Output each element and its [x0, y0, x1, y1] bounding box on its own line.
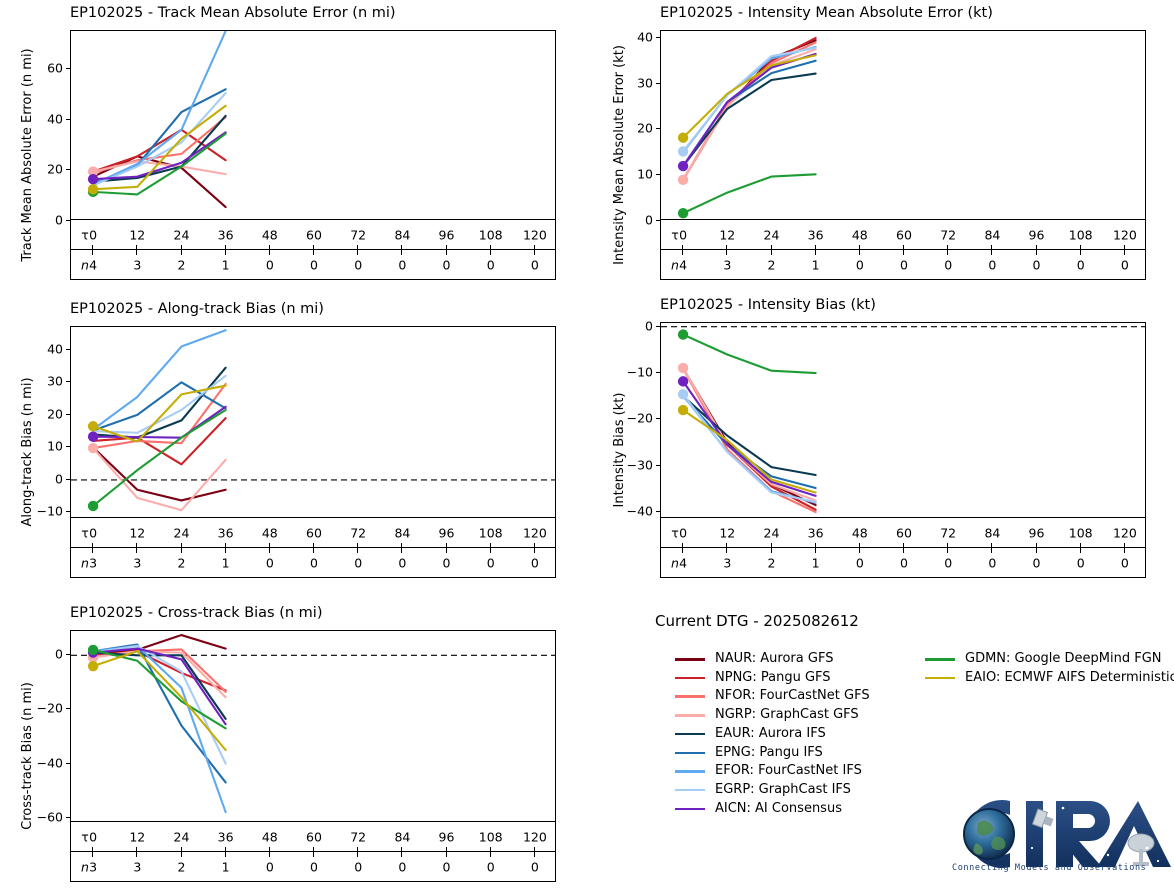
x-tick-mark [490, 847, 491, 857]
series-line-NAUR [683, 40, 816, 180]
count-cell: 0 [531, 555, 539, 570]
x-tick-mark [357, 847, 358, 857]
series-marker-GDMN [678, 329, 688, 339]
count-cell: 0 [1033, 555, 1041, 570]
tau-tick-label: 36 [218, 525, 234, 540]
count-row-intensity-mae: n43210000000 [660, 250, 1146, 280]
series-line-EPNG [93, 89, 226, 184]
tau-row-intensity-bias: τ01224364860728496108120 [660, 518, 1146, 548]
series-line-EAIO [93, 106, 226, 190]
series-line-EPNG [683, 396, 816, 488]
legend-item-GDMN[interactable]: GDMN: Google DeepMind FGN [925, 650, 1174, 667]
count-cell: 4 [679, 555, 687, 570]
series-line-NGRP [93, 448, 226, 510]
series-line-NPNG [683, 368, 816, 509]
tau-tick-label: 48 [852, 525, 868, 540]
plot-area-cross-track-bias [70, 630, 556, 822]
count-cell: 0 [856, 257, 864, 272]
x-tick-mark [446, 847, 447, 857]
plot-area-intensity-bias [660, 322, 1146, 518]
count-cell: 0 [531, 257, 539, 272]
series-line-AICN [683, 54, 816, 166]
y-tick-label: 0 [608, 318, 653, 333]
series-line-NAUR [683, 368, 816, 505]
y-tick-label: −40 [18, 755, 63, 770]
tau-tick-label: 60 [896, 525, 912, 540]
series-line-NFOR [93, 384, 226, 448]
y-tick-mark [66, 654, 70, 655]
x-tick-mark [682, 543, 683, 553]
n-symbol: n [81, 859, 89, 874]
count-cell: 0 [310, 555, 318, 570]
series-line-NAUR [93, 635, 226, 654]
x-tick-mark [771, 543, 772, 553]
x-tick-mark [181, 543, 182, 553]
legend-label-EAUR: EAUR: Aurora IFS [715, 725, 826, 742]
tau-tick-label: 96 [1029, 227, 1045, 242]
y-tick-mark [656, 128, 660, 129]
x-tick-mark [1080, 245, 1081, 255]
count-cell: 4 [679, 257, 687, 272]
legend-label-NGRP: NGRP: GraphCast GFS [715, 706, 859, 723]
legend-item-NFOR[interactable]: NFOR: FourCastNet GFS [675, 687, 935, 704]
series-line-EAIO [683, 55, 816, 137]
legend-label-NFOR: NFOR: FourCastNet GFS [715, 687, 870, 704]
series-line-GDMN [93, 134, 226, 195]
legend-item-NPNG[interactable]: NPNG: Pangu GFS [675, 669, 935, 686]
n-symbol: n [671, 555, 679, 570]
count-cell: 1 [222, 555, 230, 570]
count-cell: 0 [310, 257, 318, 272]
y-tick-label: −20 [18, 701, 63, 716]
series-marker-AICN [678, 161, 688, 171]
series-marker-GDMN [88, 501, 98, 511]
series-marker-NGRP [678, 175, 688, 185]
count-cell: 3 [133, 555, 141, 570]
legend-label-AICN: AICN: AI Consensus [715, 800, 842, 817]
series-marker-AICN [678, 376, 688, 386]
chart-title-intensity-bias: EP102025 - Intensity Bias (kt) [660, 297, 876, 313]
tau-tick-label: 72 [350, 525, 366, 540]
count-cell: 0 [900, 555, 908, 570]
series-line-NGRP [93, 651, 226, 697]
series-marker-EAIO [88, 421, 98, 431]
series-line-EGRP [683, 394, 816, 502]
y-tick-label: 60 [18, 61, 63, 76]
chart-title-cross-track-bias: EP102025 - Cross-track Bias (n mi) [70, 605, 323, 621]
x-tick-mark [903, 245, 904, 255]
series-line-NFOR [93, 117, 226, 173]
x-tick-mark [726, 245, 727, 255]
tau-row-track-mae: τ01224364860728496108120 [70, 220, 556, 250]
count-cell: 0 [266, 555, 274, 570]
x-tick-mark [1080, 543, 1081, 553]
x-tick-mark [859, 543, 860, 553]
count-cell: 2 [178, 257, 186, 272]
series-canvas-track-mae [71, 31, 556, 220]
series-marker-EAIO [88, 184, 98, 194]
x-tick-mark [92, 847, 93, 857]
tau-tick-label: 84 [394, 525, 410, 540]
y-tick-label: 30 [18, 374, 63, 389]
y-tick-mark [66, 817, 70, 818]
y-tick-mark [66, 763, 70, 764]
series-line-NFOR [683, 42, 816, 179]
tau-tick-label: 84 [984, 525, 1000, 540]
count-cell: 3 [89, 859, 97, 874]
count-cell: 3 [133, 257, 141, 272]
count-cell: 0 [487, 555, 495, 570]
y-tick-mark [656, 511, 660, 512]
legend-item-EAUR[interactable]: EAUR: Aurora IFS [675, 725, 935, 742]
x-tick-mark [357, 543, 358, 553]
y-tick-label: 0 [18, 647, 63, 662]
x-tick-mark [401, 245, 402, 255]
y-tick-mark [66, 708, 70, 709]
tau-tick-label: 24 [764, 227, 780, 242]
x-tick-mark [1124, 245, 1125, 255]
tau-tick-label: 120 [523, 227, 547, 242]
count-cell: 0 [310, 859, 318, 874]
series-marker-EAIO [678, 405, 688, 415]
series-line-GDMN [683, 174, 816, 213]
series-line-NFOR [683, 368, 816, 512]
series-marker-EAIO [678, 132, 688, 142]
legend-label-NAUR: NAUR: Aurora GFS [715, 650, 833, 667]
series-marker-AICN [88, 431, 98, 441]
tau-tick-label: 72 [940, 227, 956, 242]
series-canvas-along-track-bias [71, 327, 556, 518]
tau-tick-label: 108 [1069, 525, 1093, 540]
legend-item-EGRP[interactable]: EGRP: GraphCast IFS [675, 781, 935, 798]
series-canvas-cross-track-bias [71, 631, 556, 822]
count-cell: 0 [266, 859, 274, 874]
legend-swatch-GDMN-icon [925, 658, 955, 661]
legend-item-NGRP[interactable]: NGRP: GraphCast GFS [675, 706, 935, 723]
count-cell: 0 [531, 859, 539, 874]
series-canvas-intensity-mae [661, 31, 1146, 220]
y-tick-mark [656, 220, 660, 221]
tau-tick-label: 24 [174, 829, 190, 844]
tau-tick-label: 72 [940, 525, 956, 540]
x-tick-mark [136, 543, 137, 553]
x-tick-mark [313, 847, 314, 857]
count-cell: 0 [354, 555, 362, 570]
count-row-along-track-bias: n33210000000 [70, 548, 556, 578]
x-tick-mark [947, 245, 948, 255]
chart-title-intensity-mae: EP102025 - Intensity Mean Absolute Error… [660, 5, 993, 21]
series-line-EAUR [93, 368, 226, 438]
legend-item-EAIO[interactable]: EAIO: ECMWF AIFS Deterministic [925, 669, 1174, 686]
x-tick-mark [401, 543, 402, 553]
series-line-EFOR [93, 31, 226, 184]
y-tick-mark [66, 414, 70, 415]
count-cell: 1 [222, 257, 230, 272]
count-cell: 0 [443, 859, 451, 874]
y-tick-mark [66, 446, 70, 447]
legend-swatch-NAUR-icon [675, 658, 705, 661]
tau-tick-label: 108 [479, 829, 503, 844]
legend-label-EPNG: EPNG: Pangu IFS [715, 744, 823, 761]
series-line-EGRP [93, 93, 226, 185]
count-cell: 0 [1121, 555, 1129, 570]
legend-swatch-AICN-icon [675, 808, 705, 811]
series-line-EGRP [93, 376, 226, 433]
x-tick-mark [269, 847, 270, 857]
count-cell: 1 [222, 859, 230, 874]
legend-swatch-NGRP-icon [675, 714, 705, 717]
series-line-EAIO [93, 651, 226, 750]
y-tick-label: 10 [18, 439, 63, 454]
tau-tick-label: 96 [439, 227, 455, 242]
count-cell: 2 [768, 555, 776, 570]
legend-label-EGRP: EGRP: GraphCast IFS [715, 781, 851, 798]
series-line-EFOR [683, 395, 816, 503]
count-cell: 0 [1077, 257, 1085, 272]
series-line-NGRP [683, 49, 816, 179]
x-tick-mark [726, 543, 727, 553]
count-cell: 0 [1077, 555, 1085, 570]
series-line-EPNG [93, 382, 226, 430]
series-line-GDMN [683, 335, 816, 373]
series-line-NAUR [93, 156, 226, 207]
x-tick-mark [181, 245, 182, 255]
series-line-NPNG [93, 130, 226, 172]
legend-item-NAUR[interactable]: NAUR: Aurora GFS [675, 650, 935, 667]
legend-swatch-NPNG-icon [675, 677, 705, 680]
series-line-NGRP [683, 368, 816, 501]
count-cell: 2 [768, 257, 776, 272]
series-line-GDMN [93, 650, 226, 728]
count-cell: 0 [988, 257, 996, 272]
series-marker-NGRP [88, 166, 98, 176]
x-tick-mark [92, 245, 93, 255]
y-tick-label: 20 [608, 121, 653, 136]
y-tick-label: −10 [608, 365, 653, 380]
tau-tick-label: 24 [764, 525, 780, 540]
x-tick-mark [1124, 543, 1125, 553]
legend-label-EFOR: EFOR: FourCastNet IFS [715, 762, 862, 779]
count-cell: 0 [354, 859, 362, 874]
count-cell: 0 [398, 257, 406, 272]
series-line-EPNG [683, 61, 816, 166]
x-tick-mark [815, 543, 816, 553]
legend-item-EFOR[interactable]: EFOR: FourCastNet IFS [675, 762, 935, 779]
series-line-NGRP [93, 161, 226, 174]
series-line-EPNG [93, 645, 226, 783]
x-tick-mark [534, 847, 535, 857]
y-tick-mark [656, 83, 660, 84]
tau-tick-label: 36 [808, 227, 824, 242]
tau-tick-label: 12 [719, 525, 735, 540]
x-tick-mark [903, 543, 904, 553]
cira-tagline: Connecting Models and Observations [952, 863, 1146, 873]
plot-area-along-track-bias [70, 326, 556, 518]
tau-tick-label: 0 [89, 829, 97, 844]
x-tick-mark [815, 245, 816, 255]
x-tick-mark [1036, 245, 1037, 255]
y-tick-mark [66, 479, 70, 480]
count-cell: 0 [856, 555, 864, 570]
tau-symbol: τ [81, 227, 89, 242]
x-tick-mark [357, 245, 358, 255]
y-tick-mark [66, 381, 70, 382]
tau-tick-label: 108 [479, 525, 503, 540]
x-tick-mark [269, 543, 270, 553]
tau-tick-label: 120 [523, 829, 547, 844]
y-tick-label: 0 [18, 471, 63, 486]
series-marker-GDMN [88, 187, 98, 197]
chart-title-track-mae: EP102025 - Track Mean Absolute Error (n … [70, 5, 396, 21]
y-tick-mark [66, 169, 70, 170]
legend-item-AICN[interactable]: AICN: AI Consensus [675, 800, 935, 817]
series-marker-GDMN [678, 208, 688, 218]
x-tick-mark [490, 543, 491, 553]
x-tick-mark [1036, 543, 1037, 553]
tau-row-intensity-mae: τ01224364860728496108120 [660, 220, 1146, 250]
count-cell: 3 [723, 257, 731, 272]
y-tick-mark [66, 349, 70, 350]
y-tick-mark [656, 418, 660, 419]
count-cell: 4 [89, 257, 97, 272]
series-line-EAUR [683, 74, 816, 166]
tau-tick-label: 36 [808, 525, 824, 540]
legend-swatch-EAIO-icon [925, 677, 955, 680]
series-line-NPNG [683, 38, 816, 180]
x-tick-mark [313, 543, 314, 553]
tau-tick-label: 108 [479, 227, 503, 242]
chart-title-along-track-bias: EP102025 - Along-track Bias (n mi) [70, 301, 324, 317]
y-tick-label: −30 [608, 457, 653, 472]
series-line-EGRP [93, 646, 226, 764]
count-cell: 0 [398, 859, 406, 874]
tau-tick-label: 72 [350, 227, 366, 242]
x-tick-mark [269, 245, 270, 255]
cira-logo: Connecting Models and Observations [942, 793, 1174, 893]
series-line-NPNG [93, 651, 226, 690]
series-line-EAUR [683, 396, 816, 475]
series-marker-EAIO [88, 661, 98, 671]
x-tick-mark [136, 245, 137, 255]
count-cell: 0 [1121, 257, 1129, 272]
count-cell: 0 [487, 859, 495, 874]
series-canvas-intensity-bias [661, 323, 1146, 518]
tau-tick-label: 12 [129, 525, 145, 540]
y-axis-label-intensity-bias: Intensity Bias (kt) [612, 322, 627, 578]
tau-tick-label: 120 [523, 525, 547, 540]
y-tick-mark [656, 326, 660, 327]
count-cell: 0 [988, 555, 996, 570]
series-line-AICN [93, 649, 226, 725]
legend-label-NPNG: NPNG: Pangu GFS [715, 669, 831, 686]
count-row-intensity-bias: n43210000000 [660, 548, 1146, 578]
tau-tick-label: 12 [129, 227, 145, 242]
legend-swatch-EGRP-icon [675, 789, 705, 792]
tau-tick-label: 120 [1113, 525, 1137, 540]
series-line-NPNG [93, 418, 226, 464]
tau-tick-label: 60 [306, 525, 322, 540]
tau-tick-label: 0 [89, 227, 97, 242]
count-cell: 0 [944, 555, 952, 570]
count-cell: 2 [178, 555, 186, 570]
tau-tick-label: 72 [350, 829, 366, 844]
series-line-EGRP [683, 48, 816, 151]
tau-row-along-track-bias: τ01224364860728496108120 [70, 518, 556, 548]
y-tick-label: 20 [18, 406, 63, 421]
x-tick-mark [181, 847, 182, 857]
series-marker-NGRP [88, 652, 98, 662]
x-tick-mark [771, 245, 772, 255]
series-line-AICN [93, 132, 226, 179]
tau-tick-label: 84 [984, 227, 1000, 242]
y-tick-label: 40 [18, 341, 63, 356]
plot-area-track-mae [70, 30, 556, 220]
x-tick-mark [991, 543, 992, 553]
series-line-EAUR [93, 116, 226, 182]
y-tick-mark [66, 220, 70, 221]
legend-label-EAIO: EAIO: ECMWF AIFS Deterministic [965, 669, 1174, 686]
x-tick-mark [490, 245, 491, 255]
count-row-cross-track-bias: n33210000000 [70, 852, 556, 882]
tau-tick-label: 108 [1069, 227, 1093, 242]
x-tick-mark [534, 245, 535, 255]
series-line-NFOR [93, 649, 226, 691]
series-line-NAUR [93, 447, 226, 500]
count-cell: 3 [133, 859, 141, 874]
y-axis-label-cross-track-bias: Cross-track Bias (n mi) [20, 630, 35, 882]
x-tick-mark [313, 245, 314, 255]
tau-tick-label: 96 [439, 829, 455, 844]
y-tick-mark [656, 174, 660, 175]
y-tick-label: −40 [608, 504, 653, 519]
tau-tick-label: 48 [262, 829, 278, 844]
x-tick-mark [225, 543, 226, 553]
n-symbol: n [81, 555, 89, 570]
series-marker-AICN [88, 647, 98, 657]
y-tick-label: 40 [18, 111, 63, 126]
count-cell: 1 [812, 257, 820, 272]
y-tick-label: 30 [608, 75, 653, 90]
count-cell: 0 [487, 257, 495, 272]
y-tick-mark [66, 68, 70, 69]
tau-symbol: τ [671, 227, 679, 242]
y-tick-mark [66, 511, 70, 512]
legend-item-EPNG[interactable]: EPNG: Pangu IFS [675, 744, 935, 761]
tau-tick-label: 0 [679, 227, 687, 242]
tau-tick-label: 0 [679, 525, 687, 540]
plot-area-intensity-mae [660, 30, 1146, 220]
tau-tick-label: 96 [439, 525, 455, 540]
series-line-AICN [683, 381, 816, 495]
x-tick-mark [401, 847, 402, 857]
x-tick-mark [859, 245, 860, 255]
x-tick-mark [682, 245, 683, 255]
legend-swatch-EAUR-icon [675, 733, 705, 736]
count-cell: 0 [443, 555, 451, 570]
tau-tick-label: 0 [89, 525, 97, 540]
series-marker-EGRP [678, 389, 688, 399]
y-tick-mark [66, 119, 70, 120]
series-line-EAIO [93, 386, 226, 442]
tau-tick-label: 36 [218, 227, 234, 242]
x-tick-mark [446, 543, 447, 553]
tau-tick-label: 84 [394, 227, 410, 242]
count-cell: 0 [398, 555, 406, 570]
x-tick-mark [225, 847, 226, 857]
tau-tick-label: 96 [1029, 525, 1045, 540]
x-tick-mark [225, 245, 226, 255]
n-symbol: n [81, 257, 89, 272]
